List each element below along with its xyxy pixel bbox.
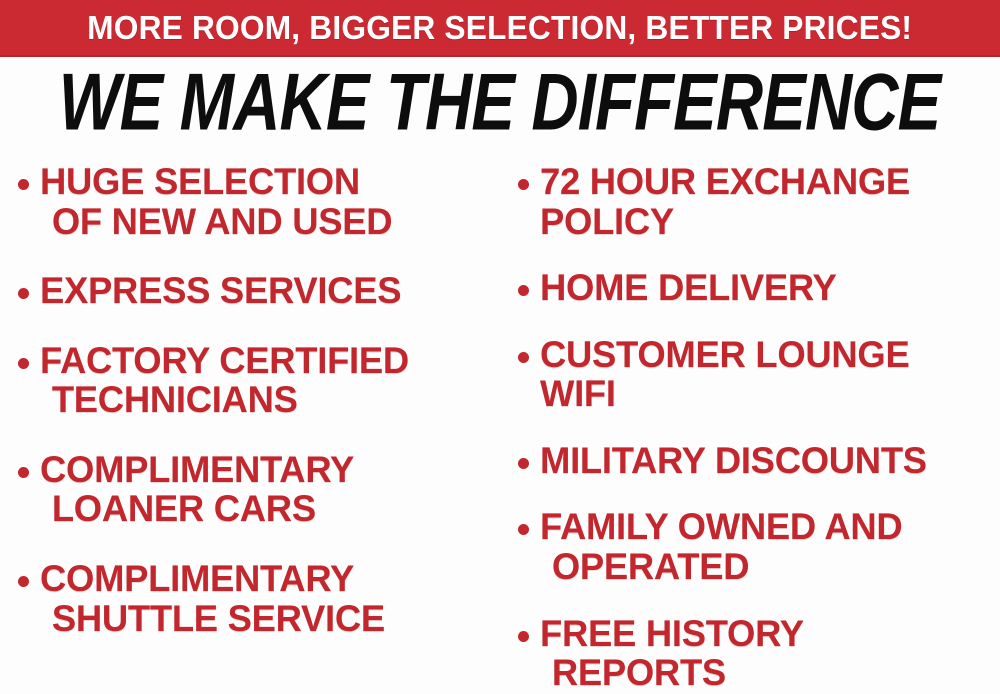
top-banner: MORE ROOM, BIGGER SELECTION, BETTER PRIC… bbox=[0, 0, 1000, 57]
list-item-line: WIFI bbox=[540, 374, 909, 414]
list-item: 72 HOUR EXCHANGE POLICY bbox=[518, 162, 1000, 241]
list-item-line: OPERATED bbox=[540, 547, 902, 587]
list-item-text: COMPLIMENTARY SHUTTLE SERVICE bbox=[40, 559, 385, 638]
list-item-line: CUSTOMER LOUNGE bbox=[540, 335, 909, 375]
list-item: HOME DELIVERY bbox=[518, 268, 1000, 308]
list-item-text: CUSTOMER LOUNGE WIFI bbox=[540, 335, 909, 414]
bullet-dot-icon bbox=[18, 179, 29, 190]
feature-column-right: 72 HOUR EXCHANGE POLICY HOME DELIVERY CU… bbox=[500, 152, 1000, 694]
headline-container: WE MAKE THE DIFFERENCE bbox=[0, 62, 1000, 144]
bullet-dot-icon bbox=[518, 352, 529, 363]
page-title: WE MAKE THE DIFFERENCE bbox=[59, 63, 941, 144]
list-item-text: COMPLIMENTARY LOANER CARS bbox=[40, 450, 354, 529]
list-item-text: HOME DELIVERY bbox=[540, 268, 837, 308]
list-item-line: FAMILY OWNED AND bbox=[540, 507, 902, 547]
list-item-line: LOANER CARS bbox=[40, 489, 354, 529]
list-item: FAMILY OWNED AND OPERATED bbox=[518, 507, 1000, 586]
list-item-line: FACTORY CERTIFIED bbox=[40, 341, 409, 381]
list-item-line: COMPLIMENTARY bbox=[40, 450, 354, 490]
banner-headline-text: MORE ROOM, BIGGER SELECTION, BETTER PRIC… bbox=[88, 11, 913, 44]
list-item-line: FREE HISTORY bbox=[540, 614, 804, 654]
list-item-line: OF NEW AND USED bbox=[40, 202, 392, 242]
list-item-line: HOME DELIVERY bbox=[540, 268, 837, 308]
bullet-dot-icon bbox=[18, 288, 29, 299]
list-item: EXPRESS SERVICES bbox=[18, 271, 500, 311]
poster-root: MORE ROOM, BIGGER SELECTION, BETTER PRIC… bbox=[0, 0, 1000, 694]
list-item-text: MILITARY DISCOUNTS bbox=[540, 441, 927, 481]
bullet-dot-icon bbox=[518, 631, 529, 642]
list-item-text: FREE HISTORY REPORTS bbox=[540, 614, 804, 693]
list-item: MILITARY DISCOUNTS bbox=[518, 441, 1000, 481]
list-item-line: HUGE SELECTION bbox=[40, 162, 392, 202]
bullet-dot-icon bbox=[18, 358, 29, 369]
list-item-line: MILITARY DISCOUNTS bbox=[540, 441, 927, 481]
list-item: COMPLIMENTARY SHUTTLE SERVICE bbox=[18, 559, 500, 638]
list-item: FREE HISTORY REPORTS bbox=[518, 614, 1000, 693]
list-item: HUGE SELECTION OF NEW AND USED bbox=[18, 162, 500, 241]
list-item-text: 72 HOUR EXCHANGE POLICY bbox=[540, 162, 910, 241]
feature-column-left: HUGE SELECTION OF NEW AND USED EXPRESS S… bbox=[0, 152, 500, 668]
feature-columns: HUGE SELECTION OF NEW AND USED EXPRESS S… bbox=[0, 152, 1000, 694]
list-item-line: 72 HOUR EXCHANGE bbox=[540, 162, 910, 202]
list-item-text: HUGE SELECTION OF NEW AND USED bbox=[40, 162, 392, 241]
list-item-line: COMPLIMENTARY bbox=[40, 559, 385, 599]
list-item-line: POLICY bbox=[540, 202, 910, 242]
bullet-dot-icon bbox=[518, 458, 529, 469]
list-item-text: FACTORY CERTIFIED TECHNICIANS bbox=[40, 341, 409, 420]
bullet-dot-icon bbox=[518, 285, 529, 296]
list-item-line: REPORTS bbox=[540, 653, 804, 693]
bullet-dot-icon bbox=[518, 524, 529, 535]
list-item-line: TECHNICIANS bbox=[40, 380, 409, 420]
list-item-text: EXPRESS SERVICES bbox=[40, 271, 401, 311]
list-item: FACTORY CERTIFIED TECHNICIANS bbox=[18, 341, 500, 420]
list-item: CUSTOMER LOUNGE WIFI bbox=[518, 335, 1000, 414]
list-item-line: SHUTTLE SERVICE bbox=[40, 599, 385, 639]
bullet-dot-icon bbox=[18, 576, 29, 587]
bullet-dot-icon bbox=[518, 179, 529, 190]
list-item-line: EXPRESS SERVICES bbox=[40, 271, 401, 311]
bullet-dot-icon bbox=[18, 467, 29, 478]
list-item: COMPLIMENTARY LOANER CARS bbox=[18, 450, 500, 529]
list-item-text: FAMILY OWNED AND OPERATED bbox=[540, 507, 902, 586]
